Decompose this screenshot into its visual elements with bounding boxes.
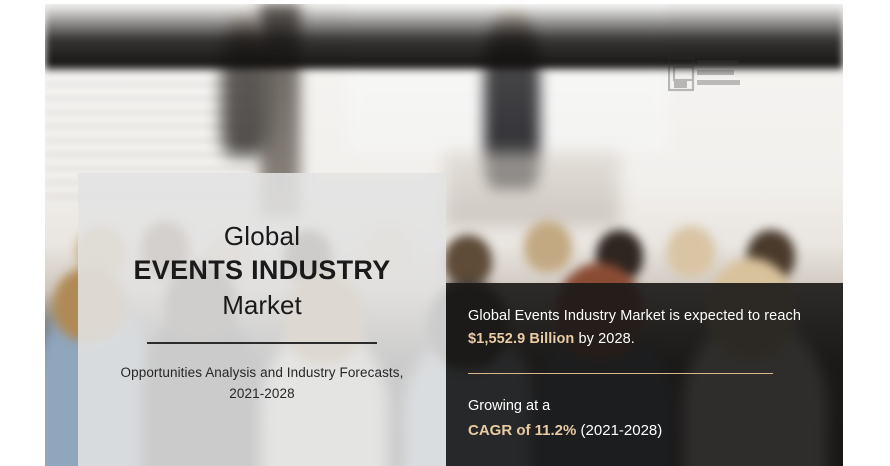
photo-podium	[444, 152, 620, 226]
cagr-period: (2021-2028)	[576, 422, 662, 439]
title-subtitle-line2: 2021-2028	[229, 386, 294, 401]
title-divider	[147, 342, 377, 344]
statement-prefix: Global Events Industry Market is expecte…	[468, 308, 801, 324]
stats-divider	[468, 373, 773, 375]
title-subhead: Market	[104, 290, 420, 321]
photo-audience-head	[524, 221, 572, 272]
photo-audience-head	[667, 226, 715, 277]
statement-suffix: by 2028.	[574, 331, 635, 347]
title-subtitle-line1: Opportunities Analysis and Industry Fore…	[121, 365, 404, 380]
cagr-statement: CAGR of 11.2% (2021-2028)	[468, 419, 819, 442]
title-eyebrow: Global	[104, 221, 420, 251]
stats-panel: Global Events Industry Market is expecte…	[446, 283, 843, 466]
cagr-value: CAGR of 11.2%	[468, 422, 576, 439]
market-research-banner: Global EVENTS INDUSTRY Market Opportunit…	[0, 0, 890, 466]
title-panel: Global EVENTS INDUSTRY Market Opportunit…	[78, 173, 446, 466]
title-subtitle: Opportunities Analysis and Industry Fore…	[104, 363, 420, 404]
market-size-value: $1,552.9 Billion	[468, 331, 574, 347]
photo-foreground-shadow	[45, 4, 843, 69]
growth-label: Growing at a	[468, 396, 819, 418]
page-title: EVENTS INDUSTRY	[104, 253, 420, 288]
photo-audience-head	[444, 235, 492, 286]
market-size-statement: Global Events Industry Market is expecte…	[468, 305, 819, 352]
